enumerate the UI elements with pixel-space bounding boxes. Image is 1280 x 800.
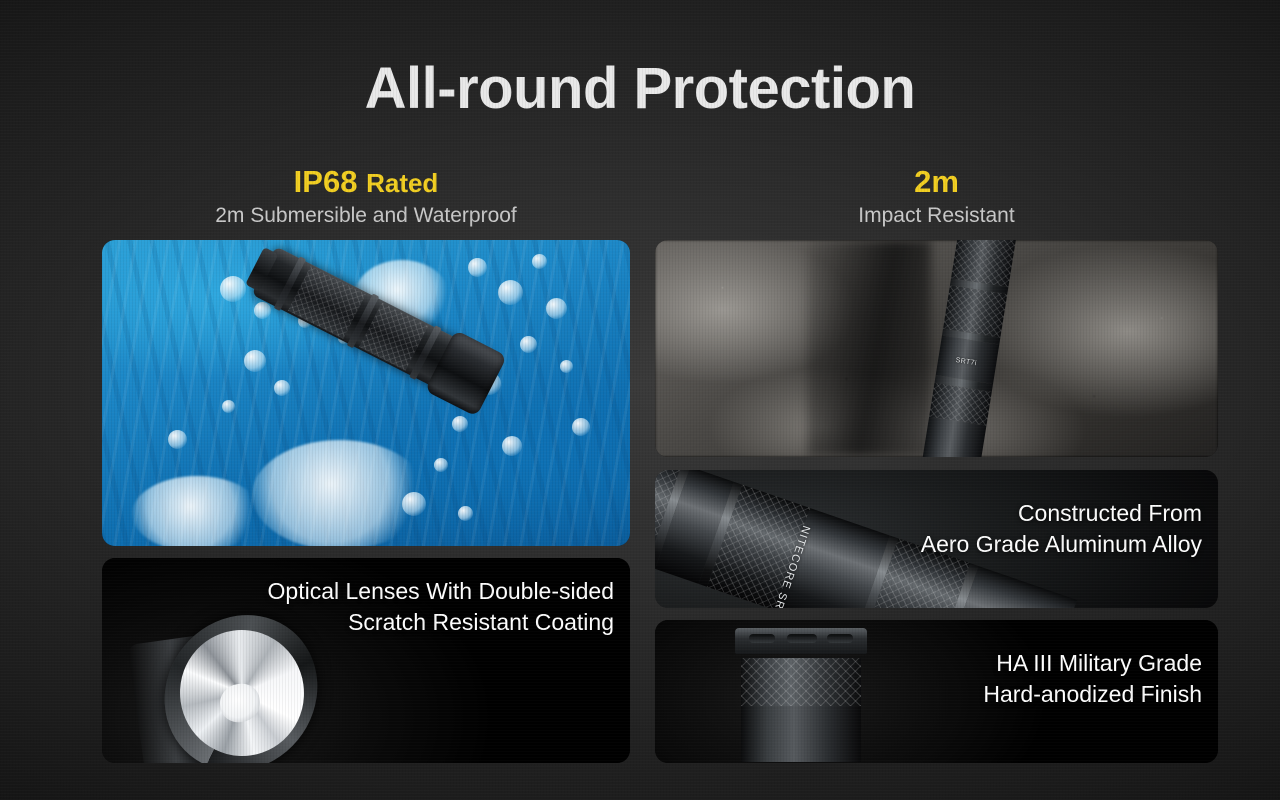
ip68-rated-label: Rated <box>366 168 438 198</box>
bubble <box>244 350 266 372</box>
bubble <box>452 416 468 432</box>
bubble <box>520 336 537 353</box>
bubble <box>168 430 187 449</box>
foam-splash <box>132 476 262 546</box>
bubble <box>222 400 235 413</box>
page-background: All-round Protection IP68 Rated 2m Subme… <box>0 0 1280 800</box>
bubble <box>274 380 290 396</box>
bubble <box>532 254 547 269</box>
tail-caption: HA III Military Grade Hard-anodized Fini… <box>983 648 1202 709</box>
impact-strong: 2m <box>914 164 959 199</box>
page-title: All-round Protection <box>0 55 1280 122</box>
column-heading-waterproof: IP68 Rated 2m Submersible and Waterproof <box>102 165 630 228</box>
tailcap-slot <box>827 634 853 643</box>
bubble <box>220 276 246 302</box>
lens-caption-line2: Scratch Resistant Coating <box>268 607 614 638</box>
waterproof-subtitle: 2m Submersible and Waterproof <box>102 204 630 228</box>
card-rocks-photo: SRT7i <box>655 240 1218 457</box>
bubble <box>502 436 522 456</box>
tailcap-knurling <box>741 658 861 706</box>
bubble <box>546 298 567 319</box>
bubble <box>402 492 426 516</box>
alloy-caption-line2: Aero Grade Aluminum Alloy <box>921 529 1202 560</box>
lens-caption-line1: Optical Lenses With Double-sided <box>268 576 614 607</box>
bubble <box>468 258 487 277</box>
tailcap-illustration <box>727 622 875 763</box>
lens-caption: Optical Lenses With Double-sided Scratch… <box>268 576 614 637</box>
alloy-caption-line1: Constructed From <box>921 498 1202 529</box>
bubble <box>458 506 473 521</box>
ip68-strong: IP68 <box>294 164 358 199</box>
bubble <box>560 360 573 373</box>
ip68-headline: IP68 Rated <box>102 165 630 200</box>
tailcap-barrel <box>741 706 861 762</box>
bubble <box>434 458 448 472</box>
bubble <box>254 302 271 319</box>
column-heading-impact: 2m Impact Resistant <box>655 165 1218 228</box>
alloy-caption: Constructed From Aero Grade Aluminum All… <box>921 498 1202 559</box>
impact-subtitle: Impact Resistant <box>655 204 1218 228</box>
card-hard-anodized: HA III Military Grade Hard-anodized Fini… <box>655 620 1218 763</box>
tailcap-slot <box>787 634 817 643</box>
impact-headline: 2m <box>655 165 1218 200</box>
card-optical-lens: Optical Lenses With Double-sided Scratch… <box>102 558 630 763</box>
tail-caption-line2: Hard-anodized Finish <box>983 679 1202 710</box>
tailcap-slot <box>749 634 775 643</box>
bubble <box>572 418 590 436</box>
foam-splash <box>252 440 427 546</box>
card-underwater-photo <box>102 240 630 546</box>
tail-caption-line1: HA III Military Grade <box>983 648 1202 679</box>
bubble <box>498 280 523 305</box>
card-aluminum-alloy: NITECORE SRT7i Constructed From Aero Gra… <box>655 470 1218 608</box>
